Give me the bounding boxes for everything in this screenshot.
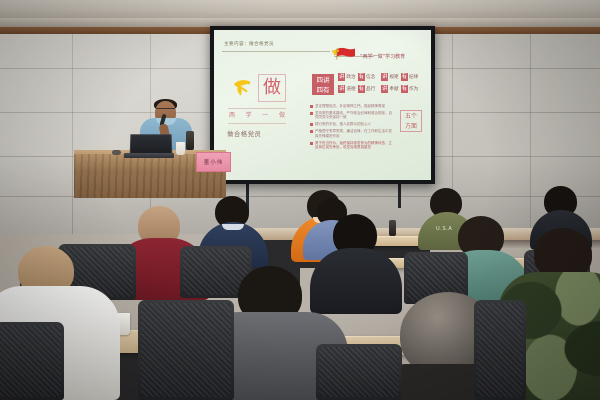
slide-four-four-grid: 讲 政治 有 信念 讲 规矩 有 纪律 (338, 73, 424, 97)
grid-item-1: 讲 规矩 有 纪律 (381, 73, 419, 81)
slide-bullet-list: 坚定理想信念，补足精神之钙，挺起精神脊梁 坚持黨的基本路线，严守政治纪律和政治规… (310, 104, 394, 152)
bullet-item: 践行黨的宗旨，做人民群众的贴心人 (310, 122, 394, 126)
bullet-item: 严格遵守黨章黨规，廉洁自律，在工作和生活中发挥先锋模范作用 (310, 129, 394, 138)
chair (474, 300, 526, 400)
slide-heading: 主要内容：做合格党员 (224, 41, 274, 47)
presenter-laptop (124, 134, 172, 158)
two-study-char-1: 学 (246, 110, 252, 119)
bullet-square-icon (310, 130, 313, 133)
projected-slide: 主要内容：做合格党员 “两学一做”学习教育 做 两 (214, 30, 431, 180)
slide-big-character: 做 (258, 74, 286, 102)
four-box-line-2: 四有 (312, 85, 334, 95)
slide-sub-rule-top (228, 108, 286, 109)
presenter-glasses-icon (156, 108, 175, 112)
slide-qualified-member: 做合格党员 (227, 129, 261, 138)
shirt-text: U.S.A (436, 226, 452, 232)
chair (316, 344, 402, 400)
two-study-char-0: 两 (229, 110, 235, 119)
name-placard: 董小伟 (196, 152, 231, 172)
grid-item-0: 讲 政治 有 信念 (338, 73, 376, 81)
grid-item-2: 讲 道德 有 品行 (338, 85, 376, 93)
placard-name: 董小伟 (204, 158, 224, 166)
slide-four-four-box: 四讲 四有 (312, 74, 334, 95)
slide-education-label: “两学一做”学习教育 (360, 53, 405, 60)
bullet-item: 勇于担当作为，始终保持奋发有为的精神状态，立足岗位创先争优，攻坚克难勇挑重担 (310, 141, 394, 150)
bullet-item: 坚持黨的基本路线，严守政治纪律和政治规矩，自觉同党中央保持一致 (310, 111, 394, 120)
party-hammer-sickle-icon (232, 78, 254, 98)
bullet-item: 坚定理想信念，补足精神之钙，挺起精神脊梁 (310, 104, 394, 108)
bullet-square-icon (310, 105, 313, 108)
slide-five-aspects-box: 五个 方面 (400, 110, 422, 132)
slide-sub-rule-bottom (228, 123, 286, 124)
bullet-square-icon (310, 142, 313, 145)
meeting-room-photo: 主要内容：做合格党员 “两学一做”学习教育 做 两 (0, 0, 600, 400)
table-thermos (389, 220, 396, 236)
thermos-bottle (186, 131, 194, 150)
chair (0, 322, 64, 400)
china-party-flag-icon (332, 47, 356, 61)
screen-bracket-right (398, 184, 401, 208)
slide-two-study-row: 两 学 一 做 (229, 110, 285, 119)
mouse-icon (112, 150, 121, 155)
ceiling (0, 0, 600, 18)
grid-item-3: 讲 奉献 有 作为 (381, 85, 419, 93)
two-study-char-3: 做 (279, 110, 285, 119)
chair (138, 300, 234, 400)
bullet-square-icon (310, 123, 313, 126)
two-study-char-2: 一 (262, 110, 268, 119)
presenter-water-cup (176, 142, 185, 155)
bullet-square-icon (310, 112, 313, 115)
projection-screen: 主要内容：做合格党员 “两学一做”学习教育 做 两 (210, 26, 435, 184)
four-box-line-1: 四讲 (312, 75, 334, 85)
slide-divider (222, 51, 330, 52)
